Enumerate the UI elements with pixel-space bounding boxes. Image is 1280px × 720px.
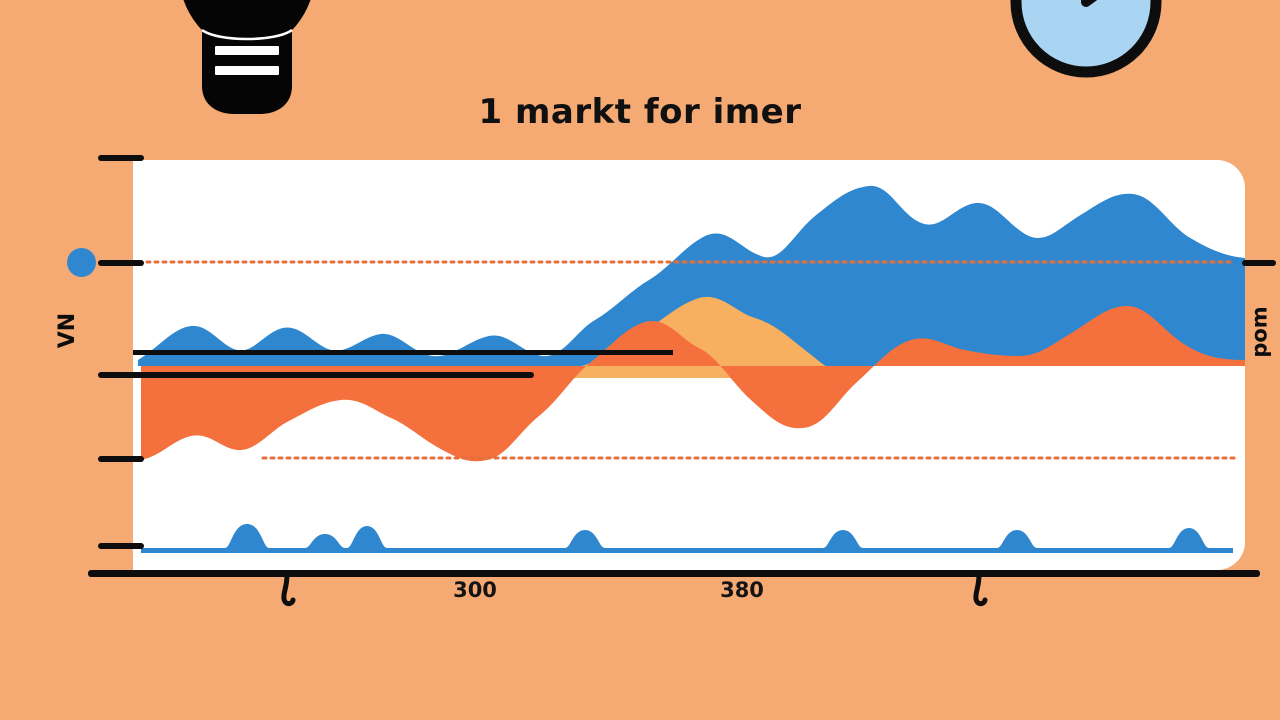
y-axis-label-right: pom: [1248, 306, 1272, 357]
y-axis-label-left: VN: [55, 313, 80, 348]
x-axis-line: [88, 570, 1260, 577]
y-tick-4: [98, 543, 144, 549]
x-tick-mark-2: [970, 575, 994, 609]
upper-solid-rule: [133, 350, 673, 355]
y-tick-2: [98, 260, 144, 266]
chart-plot: [133, 160, 1245, 570]
blue-dot-marker: [67, 248, 96, 277]
clock-icon: [1006, 0, 1166, 82]
y-tick-1: [98, 155, 144, 161]
x-tick-mark-1: [278, 575, 302, 609]
screenshot-root: VN pom 300 380 1 markt for imer: [0, 0, 1280, 720]
x-tick-label-380: 380: [702, 578, 782, 602]
y-tick-3: [98, 456, 144, 462]
x-tick-label-300: 300: [435, 578, 515, 602]
lower-solid-rule: [98, 372, 534, 378]
series-blue-sparkline: [141, 524, 1233, 553]
page-title: 1 markt for imer: [0, 92, 1280, 132]
y-tick-right: [1242, 260, 1276, 266]
